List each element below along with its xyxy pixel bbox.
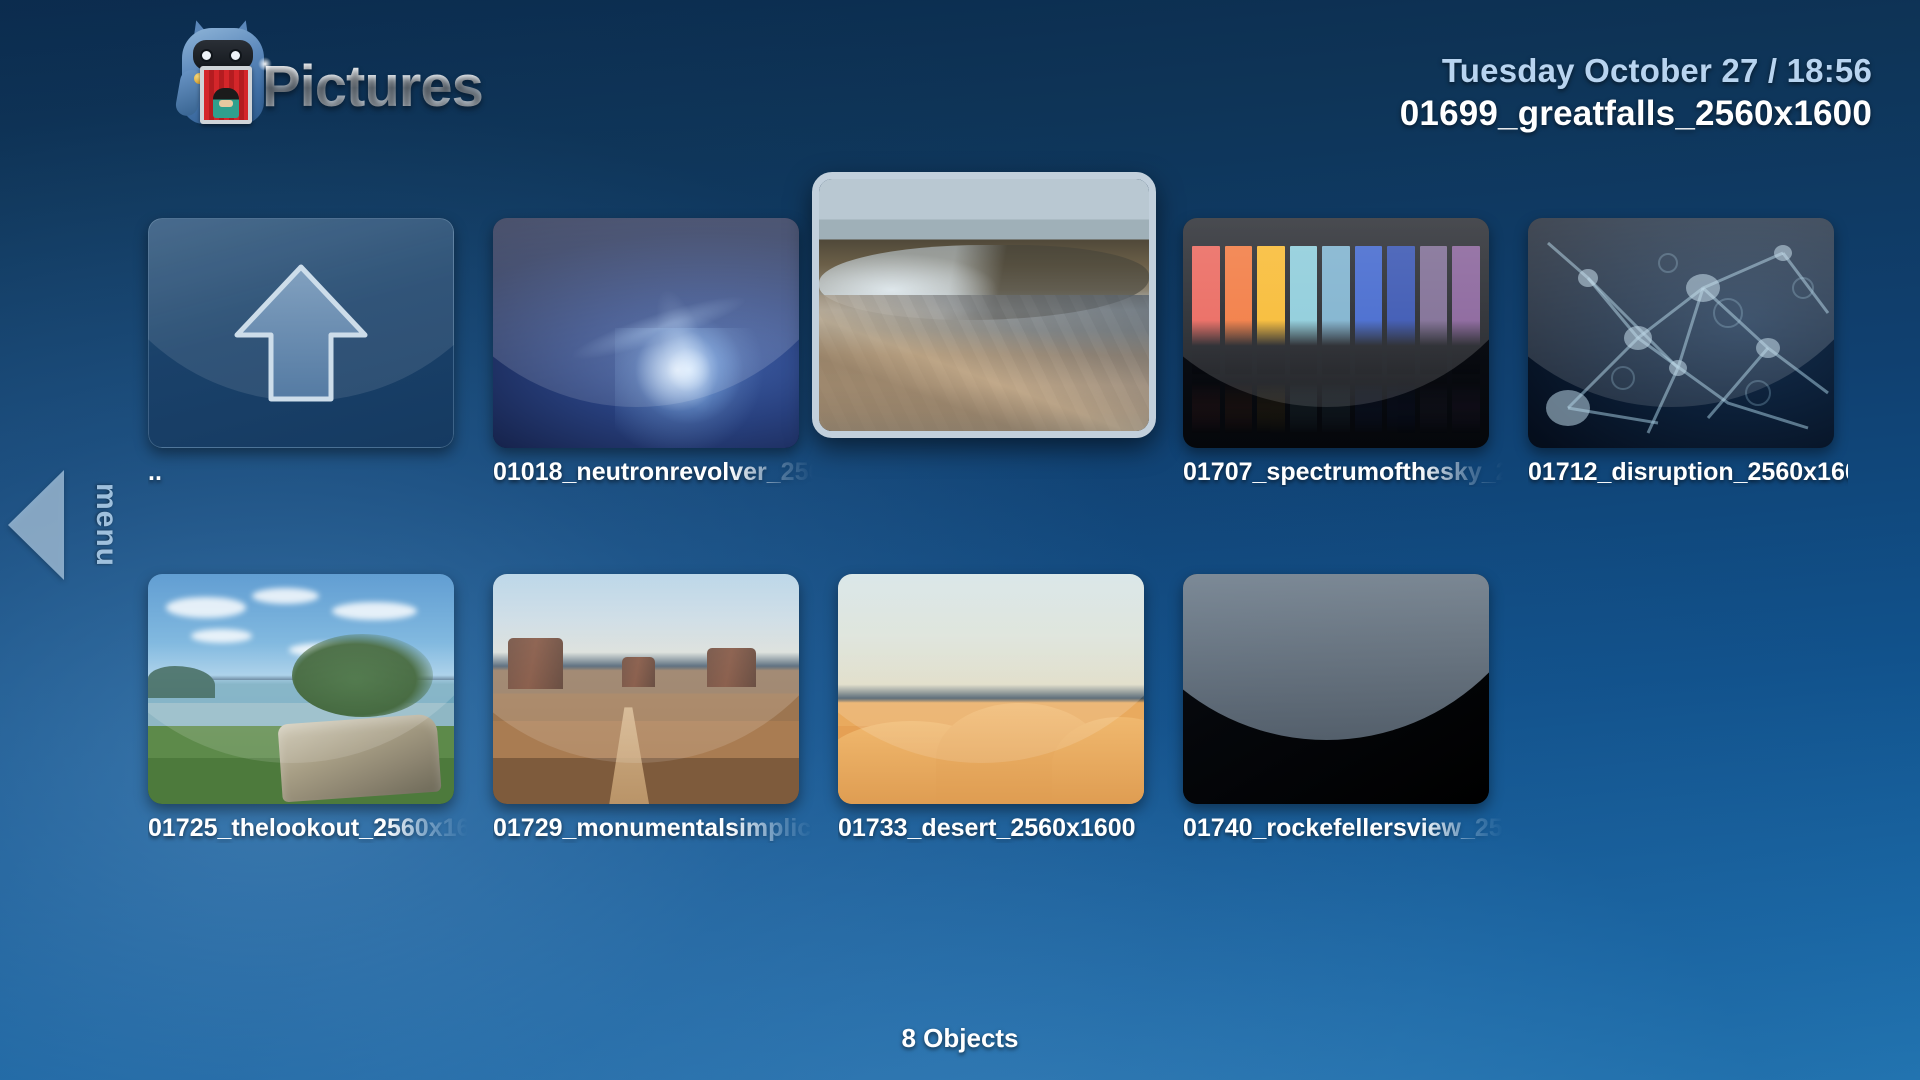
item-label: 01707_spectrumofthesky_2560: [1183, 458, 1503, 487]
grid-item-parent-folder[interactable]: ..: [140, 196, 474, 552]
item-label: 01725_thelookout_2560x1600: [148, 814, 468, 843]
sky-strip: [1387, 374, 1415, 434]
xbmc-mascot-picture-frame-icon: [176, 18, 272, 126]
menu-flyout-handle[interactable]: menu: [8, 470, 108, 580]
sky-strip: [1355, 246, 1383, 375]
grid-item-neutronrevolver[interactable]: 01018_neutronrevolver_2560x1: [485, 196, 819, 552]
thumbnail: [1183, 574, 1489, 804]
item-label: 01733_desert_2560x1600: [838, 814, 1158, 843]
sky-strip: [1420, 374, 1448, 434]
object-count-status: 8 Objects: [0, 1023, 1920, 1054]
left-triangle-icon: [8, 470, 64, 580]
sky-strip: [1387, 246, 1415, 375]
thumbnail-art-desert: [838, 574, 1144, 804]
sky-strip: [1192, 374, 1220, 434]
sky-strip: [1290, 246, 1318, 375]
thumbnail-art-thelookout: [148, 574, 454, 804]
header: Pictures Tuesday October 27 / 18:56 0169…: [0, 0, 1920, 160]
sky-strip: [1420, 246, 1448, 375]
thumbnail: [1528, 218, 1834, 448]
sky-strip: [1257, 246, 1285, 375]
grid-item-monumentalsimplicity[interactable]: 01729_monumentalsimplicity_2: [485, 552, 819, 908]
thumbnail: [148, 574, 454, 804]
item-label: ..: [148, 458, 468, 487]
item-label: 01729_monumentalsimplicity_2: [493, 814, 813, 843]
thumbnail-art-disruption: [1528, 218, 1834, 448]
selected-item-title: 01699_greatfalls_2560x1600: [1400, 94, 1872, 134]
item-label: 01740_rockefellersview_2560x1: [1183, 814, 1503, 843]
parent-folder-tile: [148, 218, 454, 448]
thumbnail: [1183, 218, 1489, 448]
grid-row: .. 01018_neutronrevolver_2560x1 01699_gr…: [140, 196, 1880, 552]
grid-item-spectrumofthesky[interactable]: 01707_spectrumofthesky_2560: [1175, 196, 1509, 552]
thumbnail-focused: [812, 172, 1156, 438]
app-title: Pictures: [262, 53, 483, 120]
header-info: Tuesday October 27 / 18:56 01699_greatfa…: [1400, 52, 1872, 134]
sky-strip: [1322, 374, 1350, 434]
sky-strip: [1290, 374, 1318, 434]
sky-strip: [1225, 246, 1253, 375]
sky-strip: [1225, 374, 1253, 434]
grid-item-greatfalls-selected[interactable]: 01699_greatfalls_2560x1600: [830, 196, 1164, 552]
thumbnail-art-neutronrevolver: [493, 218, 799, 448]
sky-strip: [1452, 246, 1480, 375]
item-label: 01712_disruption_2560x1600: [1528, 458, 1848, 487]
grid-item-rockefellersview[interactable]: 01740_rockefellersview_2560x1: [1175, 552, 1509, 908]
thumbnail-art-monumentalsimplicity: [493, 574, 799, 804]
clock-datetime: Tuesday October 27 / 18:56: [1400, 52, 1872, 90]
thumbnail: [838, 574, 1144, 804]
grid-item-disruption[interactable]: 01712_disruption_2560x1600: [1520, 196, 1854, 552]
sky-strip: [1322, 246, 1350, 375]
up-arrow-icon: [231, 257, 371, 409]
sky-strip: [1355, 374, 1383, 434]
sky-strip: [1452, 374, 1480, 434]
menu-label: menu: [89, 483, 123, 567]
gloss-overlay: [1183, 574, 1489, 740]
thumbnail: [493, 574, 799, 804]
grid-item-thelookout[interactable]: 01725_thelookout_2560x1600: [140, 552, 474, 908]
thumbnail-art-rockefellersview: [1183, 574, 1489, 804]
sky-strip: [1257, 374, 1285, 434]
app-logo: Pictures: [176, 14, 483, 126]
thumbnail-art-spectrumofthesky: [1183, 218, 1489, 448]
item-label: 01018_neutronrevolver_2560x1: [493, 458, 813, 487]
thumbnail-art-greatfalls: [819, 179, 1149, 431]
grid-row: 01725_thelookout_2560x1600 01729_monumen…: [140, 552, 1880, 908]
thumbnail: [148, 218, 454, 448]
pictures-screen: Pictures Tuesday October 27 / 18:56 0169…: [0, 0, 1920, 1080]
sky-strip: [1192, 246, 1220, 375]
thumbnail: [493, 218, 799, 448]
grid-item-desert[interactable]: 01733_desert_2560x1600: [830, 552, 1164, 908]
thumbnail-grid: .. 01018_neutronrevolver_2560x1 01699_gr…: [140, 196, 1880, 908]
